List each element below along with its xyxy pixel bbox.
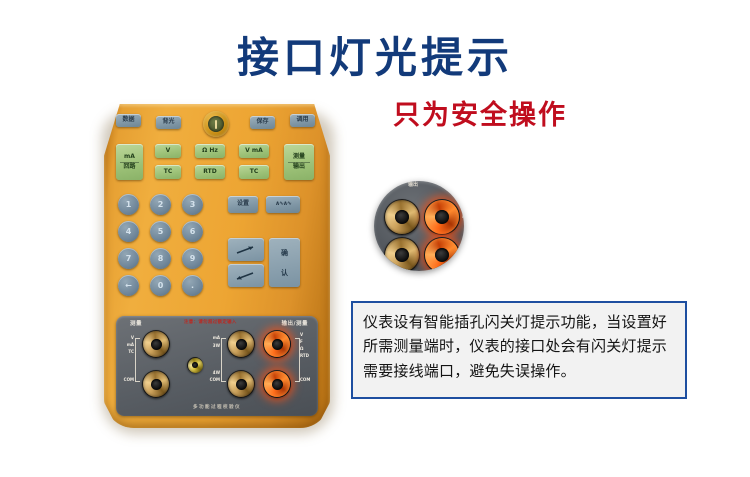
arrow-up-icon (236, 245, 256, 255)
right-com-label: COM (300, 377, 317, 382)
left-port-label-tc: TC (120, 349, 134, 354)
confirm-label-2: 认 (281, 268, 288, 278)
mid-port-label-ma: mA (207, 335, 220, 340)
key-9[interactable]: 9 (182, 248, 203, 269)
key-3[interactable]: 3 (182, 194, 203, 215)
closeup-jack-left-lower[interactable] (384, 237, 420, 271)
power-icon (208, 116, 224, 132)
mid-bracket (221, 338, 226, 382)
jack-left-upper[interactable] (142, 330, 170, 358)
settings-button[interactable]: 设置 (228, 196, 258, 213)
key-8[interactable]: 8 (150, 248, 171, 269)
left-bracket (135, 338, 140, 382)
device-face: 数据 背光 保存 调用 mA 回路 V Ω Hz V mA TC RTD TC … (110, 108, 324, 424)
callout-box: 仪表设有智能插孔闪关灯提示功能，当设置好所需测量端时，仪表的接口处会有闪关灯提示… (351, 301, 687, 399)
ma-loop-label-1: mA (124, 154, 135, 160)
arrow-down-icon (236, 271, 256, 281)
mid-com-label-4w: 4W (205, 370, 220, 375)
jack-right-upper-lit[interactable] (263, 330, 291, 358)
key-0[interactable]: 0 (150, 275, 171, 296)
key-2[interactable]: 2 (150, 194, 171, 215)
right-port-label-v: V (300, 332, 316, 337)
panel-left-title: 测量 (130, 319, 142, 327)
arrow-down-button[interactable] (228, 264, 264, 287)
calibrator-device: 数据 背光 保存 调用 mA 回路 V Ω Hz V mA TC RTD TC … (92, 100, 342, 435)
right-port-label-ohm: Ω (300, 346, 316, 351)
output-label: 输出 (293, 164, 305, 170)
jack-left-lower[interactable] (142, 370, 170, 398)
terminal-panel: 测量 输出/测量 注意：请勿超过额定输入 V mA TC COM mA 3W (116, 316, 318, 416)
key-decimal[interactable]: . (182, 275, 203, 296)
left-port-label-v: V (120, 335, 134, 340)
right-port-label-rtd: RTD (300, 353, 316, 358)
power-button[interactable] (203, 111, 229, 137)
key-6[interactable]: 6 (182, 221, 203, 242)
key-5[interactable]: 5 (150, 221, 171, 242)
right-bracket (295, 338, 300, 382)
tc-button-2[interactable]: TC (239, 165, 269, 179)
measure-label: 测量 (293, 154, 305, 160)
v-ma-button[interactable]: V mA (239, 144, 269, 158)
key-4[interactable]: 4 (118, 221, 139, 242)
closeup-jack-right-upper-lit[interactable] (424, 199, 460, 235)
left-com-label: COM (117, 377, 134, 382)
key-1[interactable]: 1 (118, 194, 139, 215)
tc-button-1[interactable]: TC (155, 165, 181, 179)
data-button[interactable]: 数据 (116, 114, 141, 127)
ohm-hz-button[interactable]: Ω Hz (195, 144, 225, 158)
panel-brand-text: 多功能过程校验仪 (116, 404, 318, 410)
jack-right-lower-lit[interactable] (263, 370, 291, 398)
page-title: 接口灯光提示 (0, 24, 750, 85)
confirm-button[interactable]: 确 认 (269, 238, 300, 287)
key-7[interactable]: 7 (118, 248, 139, 269)
inset-label-right-lower: COM (462, 243, 464, 250)
rtd-button[interactable]: RTD (195, 165, 225, 179)
mid-port-label-3w: 3W (207, 343, 220, 348)
jack-center-small[interactable] (187, 357, 203, 373)
closeup-jack-left-upper[interactable] (384, 199, 420, 235)
callout-text: 仪表设有智能插孔闪关灯提示功能，当设置好所需测量端时，仪表的接口处会有闪关灯提示… (363, 310, 675, 383)
mid-com-label: COM (203, 377, 220, 382)
recall-button[interactable]: 调用 (290, 114, 315, 127)
backlight-button[interactable]: 背光 (156, 116, 181, 129)
measure-output-button[interactable]: 测量 输出 (284, 144, 314, 180)
ma-loop-button[interactable]: mA 回路 (116, 144, 143, 180)
v-button[interactable]: V (155, 144, 181, 158)
jack-mid-lower[interactable] (227, 370, 255, 398)
key-backspace[interactable]: ← (118, 275, 139, 296)
confirm-label-1: 确 (281, 248, 288, 258)
arrow-up-button[interactable] (228, 238, 264, 261)
ma-loop-label-2: 回路 (123, 164, 135, 170)
panel-right-title: 输出/测量 (281, 319, 308, 327)
inset-label-top: 输出 (408, 182, 418, 189)
right-port-label-f: F (300, 339, 316, 344)
inset-label-right-upper: V F Ω RTD (462, 207, 464, 220)
panel-warning-text: 注意：请勿超过额定输入 (184, 319, 262, 326)
jack-mid-upper[interactable] (227, 330, 255, 358)
closeup-jack-right-lower-lit[interactable] (424, 237, 460, 271)
waveform-button[interactable]: ∧∿∧∿ (266, 196, 300, 213)
save-button[interactable]: 保存 (250, 116, 275, 129)
terminal-closeup: 输出 V F Ω RTD COM (374, 181, 464, 271)
left-port-label-ma: mA (120, 342, 134, 347)
